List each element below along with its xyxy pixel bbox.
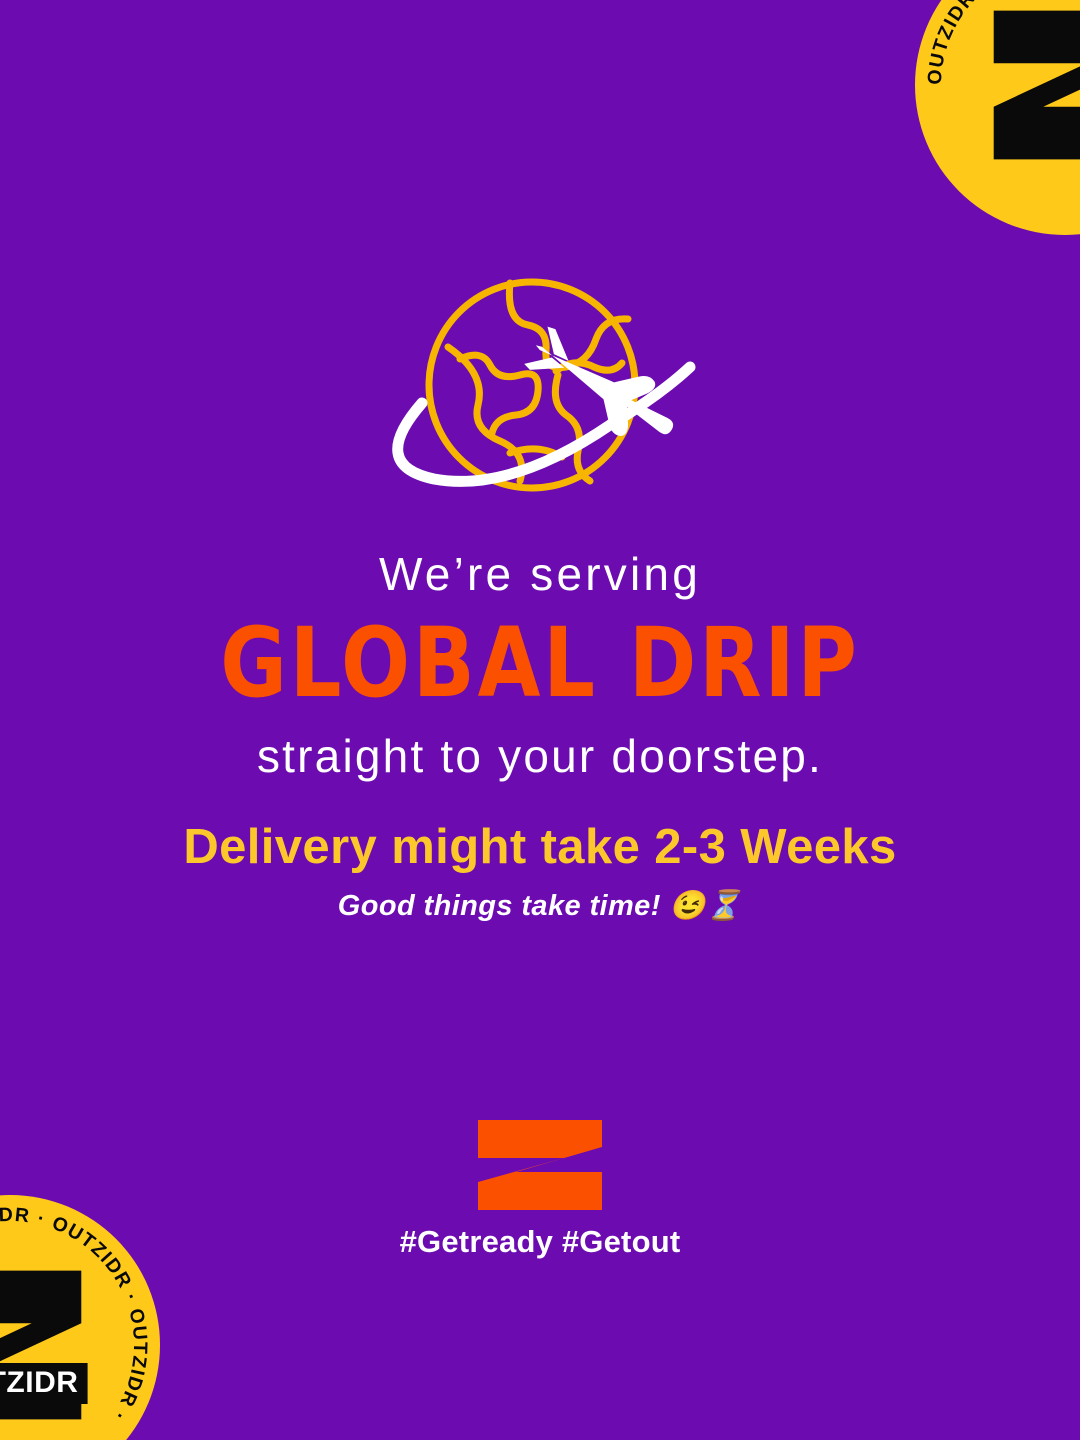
badge-wordmark: OUTZIDR [0, 1363, 87, 1404]
brand-z-logo [478, 1120, 602, 1210]
delivery-reassurance-text: Good things take time! 😉⏳ [0, 889, 1080, 923]
headline-kicker: We’re serving [0, 548, 1080, 601]
headline-sub: straight to your doorstep. [0, 730, 1080, 783]
hashtags-text: #Getready #Getout [0, 1224, 1080, 1260]
delivery-notice-block: Delivery might take 2-3 Weeks Good thing… [0, 820, 1080, 923]
headline-block: We’re serving GLOBAL DRIP straight to yo… [0, 548, 1080, 783]
promo-poster: OUTZIDR · OUTZIDR · OUTZIDR · OUTZIDR · … [0, 0, 1080, 1440]
brand-badge-top-right: OUTZIDR · OUTZIDR · OUTZIDR · OUTZIDR · [915, 0, 1080, 235]
delivery-time-text: Delivery might take 2-3 Weeks [0, 820, 1080, 875]
globe-airplane-icon [360, 275, 720, 510]
footer-block: #Getready #Getout [0, 1120, 1080, 1260]
badge-z-mark-top-right [972, 0, 1080, 178]
headline-main: GLOBAL DRIP [32, 607, 1047, 720]
badge-z-mark-bottom-left [0, 1252, 103, 1438]
